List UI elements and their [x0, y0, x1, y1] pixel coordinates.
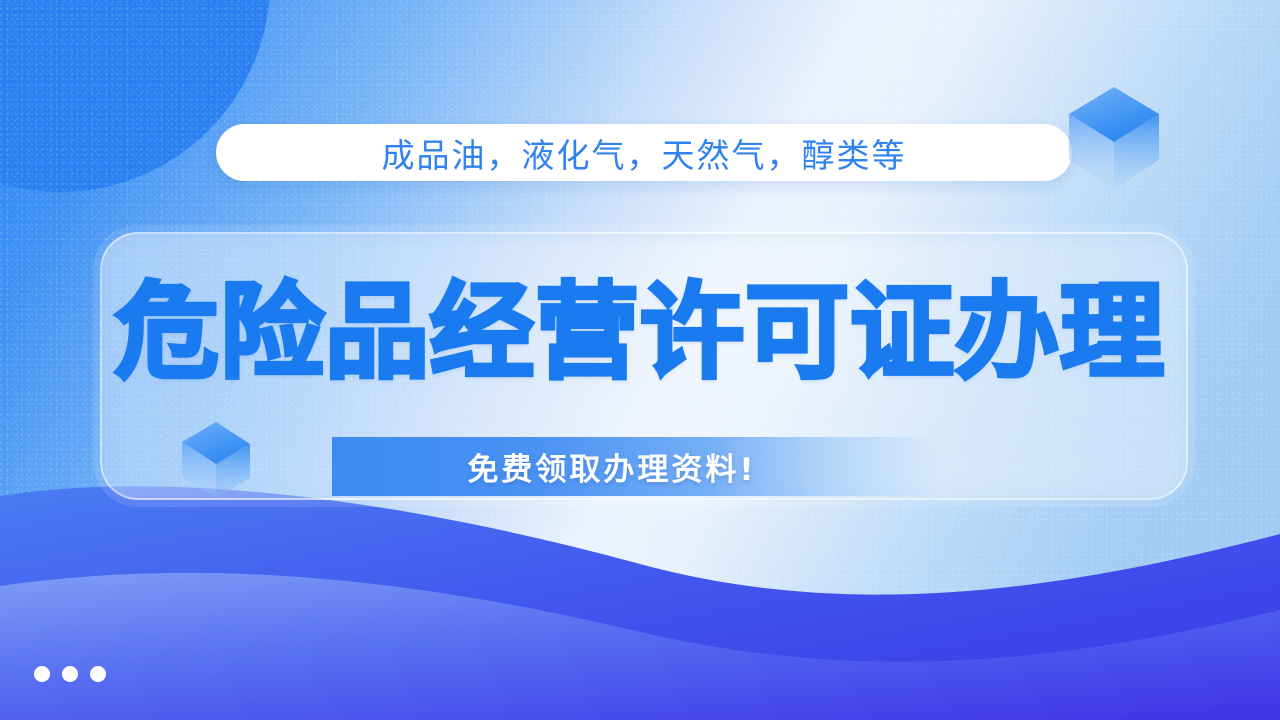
cta-banner[interactable]: 免费领取办理资料! — [332, 437, 936, 496]
subtitle-pill: 成品油，液化气，天然气，醇类等 — [216, 124, 1072, 181]
isometric-cube-icon — [1064, 84, 1164, 192]
dot-indicator — [90, 666, 106, 682]
cta-text: 免费领取办理资料! — [467, 444, 756, 489]
subtitle-text: 成品油，液化气，天然气，醇类等 — [382, 129, 907, 177]
dot-indicator-group — [34, 666, 106, 682]
poster-canvas: 成品油，液化气，天然气，醇类等 — [0, 0, 1280, 720]
dot-indicator — [34, 666, 50, 682]
isometric-cube-icon — [178, 420, 254, 500]
headline-title: 危险品经营许可证办理 — [0, 272, 1280, 392]
dot-indicator — [62, 666, 78, 682]
